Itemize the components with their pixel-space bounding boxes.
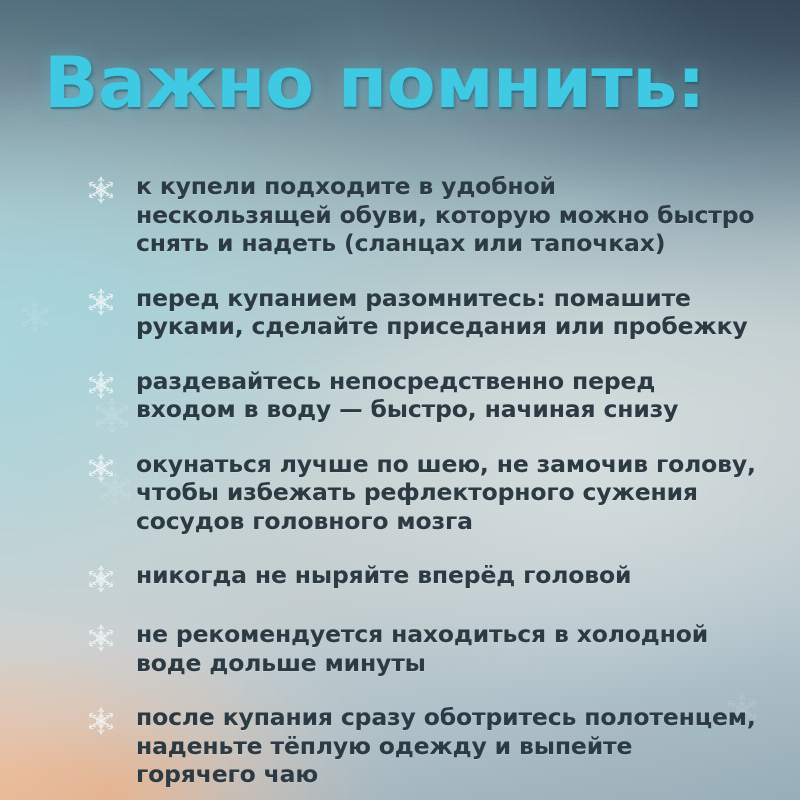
list-item: перед купанием разомнитесь: помашите рук…: [86, 284, 758, 341]
poster-canvas: Важно помнить: к купели подходите в удоб…: [0, 0, 800, 800]
snowflake-icon: [86, 370, 116, 400]
tip-text: раздевайтесь непосредственно перед входо…: [136, 367, 758, 424]
tip-text: после купания сразу оботритесь полотенце…: [136, 703, 758, 789]
list-item: к купели подходите в удобной нескользяще…: [86, 172, 758, 258]
page-title: Важно помнить:: [44, 44, 770, 122]
tip-text: никогда не ныряйте вперёд головой: [136, 561, 758, 590]
title-block: Важно помнить:: [44, 44, 756, 122]
tip-text: к купели подходите в удобной нескользяще…: [136, 172, 758, 258]
list-item: окунаться лучше по шею, не замочив голов…: [86, 450, 758, 536]
list-item: раздевайтесь непосредственно перед входо…: [86, 367, 758, 424]
tip-text: перед купанием разомнитесь: помашите рук…: [136, 284, 758, 341]
snowflake-icon: [86, 453, 116, 483]
snowflake-icon: [86, 706, 116, 736]
snowflake-icon: [86, 564, 116, 594]
list-item: не рекомендуется находиться в холодной в…: [86, 620, 758, 677]
decorative-snowflake-icon: [18, 300, 52, 334]
list-item: никогда не ныряйте вперёд головой: [86, 561, 758, 594]
tip-text: не рекомендуется находиться в холодной в…: [136, 620, 758, 677]
snowflake-icon: [86, 175, 116, 205]
list-item: после купания сразу оботритесь полотенце…: [86, 703, 758, 789]
tip-text: окунаться лучше по шею, не замочив голов…: [136, 450, 758, 536]
tips-list: к купели подходите в удобной нескользяще…: [86, 172, 758, 789]
snowflake-icon: [86, 623, 116, 653]
snowflake-icon: [86, 287, 116, 317]
